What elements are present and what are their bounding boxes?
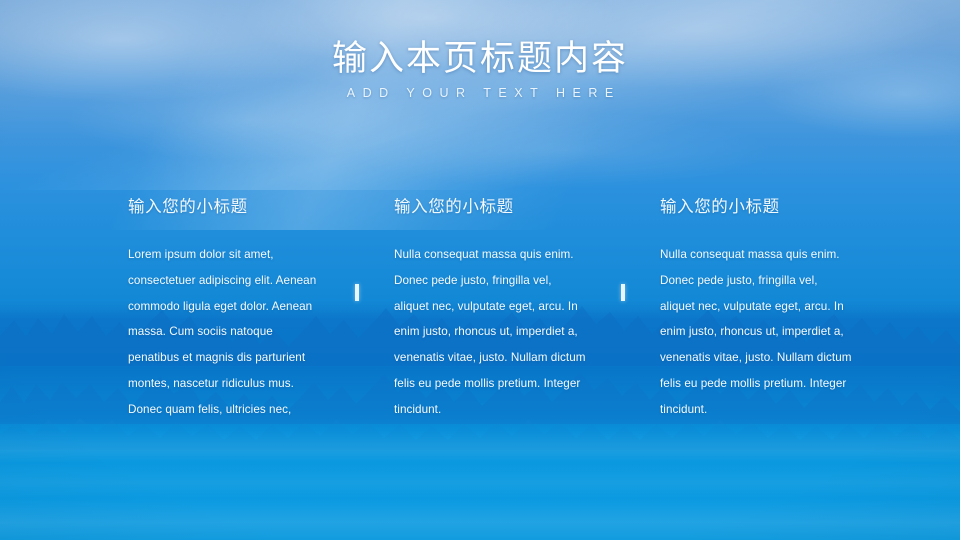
column-body-text: Nulla consequat massa quis enim. Donec p… (660, 242, 852, 423)
content-column-2: 输入您的小标题 Nulla consequat massa quis enim.… (394, 196, 586, 423)
column-divider-bar (621, 284, 625, 301)
column-gap-2 (586, 196, 660, 423)
water-sheen-decoration (0, 430, 960, 540)
page-title: 输入本页标题内容 (0, 38, 960, 80)
title-block: 输入本页标题内容 ADD YOUR TEXT HERE (0, 38, 960, 101)
column-body-text: Lorem ipsum dolor sit amet, consectetuer… (128, 242, 320, 423)
column-divider-bar (355, 284, 359, 301)
column-heading: 输入您的小标题 (394, 196, 586, 218)
content-column-1: 输入您的小标题 Lorem ipsum dolor sit amet, cons… (128, 196, 320, 423)
content-column-3: 输入您的小标题 Nulla consequat massa quis enim.… (660, 196, 852, 423)
page-subtitle: ADD YOUR TEXT HERE (0, 85, 960, 101)
column-heading: 输入您的小标题 (128, 196, 320, 218)
slide-canvas: 输入本页标题内容 ADD YOUR TEXT HERE 输入您的小标题 Lore… (0, 0, 960, 540)
column-gap-1 (320, 196, 394, 423)
content-columns: 输入您的小标题 Lorem ipsum dolor sit amet, cons… (128, 196, 852, 423)
column-heading: 输入您的小标题 (660, 196, 852, 218)
column-body-text: Nulla consequat massa quis enim. Donec p… (394, 242, 586, 423)
